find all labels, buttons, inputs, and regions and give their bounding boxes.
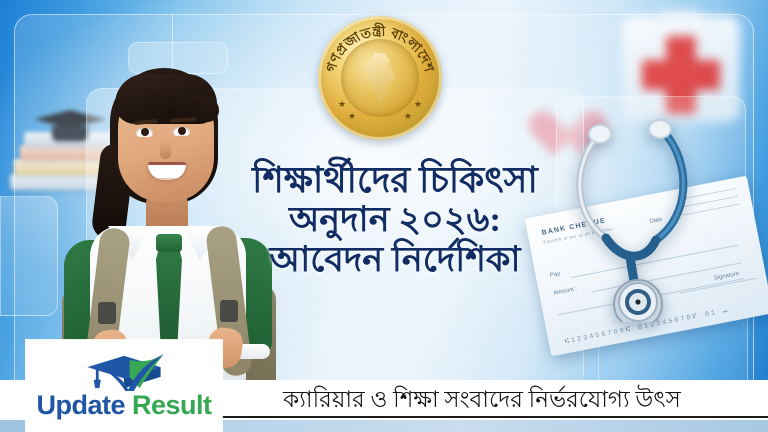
government-emblem: গণপ্রজাতন্ত্রী বাংলাদেশ সরকার ★ ★ ★ ★ xyxy=(318,16,442,140)
headline-line-3: আবেদন নির্দেশিকা xyxy=(196,240,594,279)
logo-word-result: Result xyxy=(132,390,212,420)
bangladesh-map-icon xyxy=(363,52,397,104)
graduation-cap-check-icon xyxy=(81,353,167,391)
banner-canvas: BANK CHEQUE Payable at par at all branch… xyxy=(0,0,768,432)
heart-icon xyxy=(528,110,582,160)
cheque-field-date: Date xyxy=(649,217,663,225)
cheque-micr-line: ⑆123456789⑆ 012345678⑈ 01 ⑉ xyxy=(564,307,730,347)
site-logo[interactable]: Update Result xyxy=(26,340,222,432)
cheque-field-amount: Amount : xyxy=(553,286,578,296)
glass-panel-left xyxy=(0,196,58,316)
logo-word-update: Update xyxy=(36,390,125,420)
headline-line-2: অনুদান ২০২৬: xyxy=(196,200,594,239)
logo-wordmark: Update Result xyxy=(36,392,211,419)
medical-cross-icon xyxy=(616,10,746,126)
tagline-underline xyxy=(196,416,768,418)
page-title: শিক্ষার্থীদের চিকিৎসা অনুদান ২০২৬: আবেদন… xyxy=(196,160,594,279)
tagline: ক্যারিয়ার ও শিক্ষা সংবাদের নির্ভরযোগ্য … xyxy=(206,382,758,418)
headline-line-1: শিক্ষার্থীদের চিকিৎসা xyxy=(196,160,594,200)
